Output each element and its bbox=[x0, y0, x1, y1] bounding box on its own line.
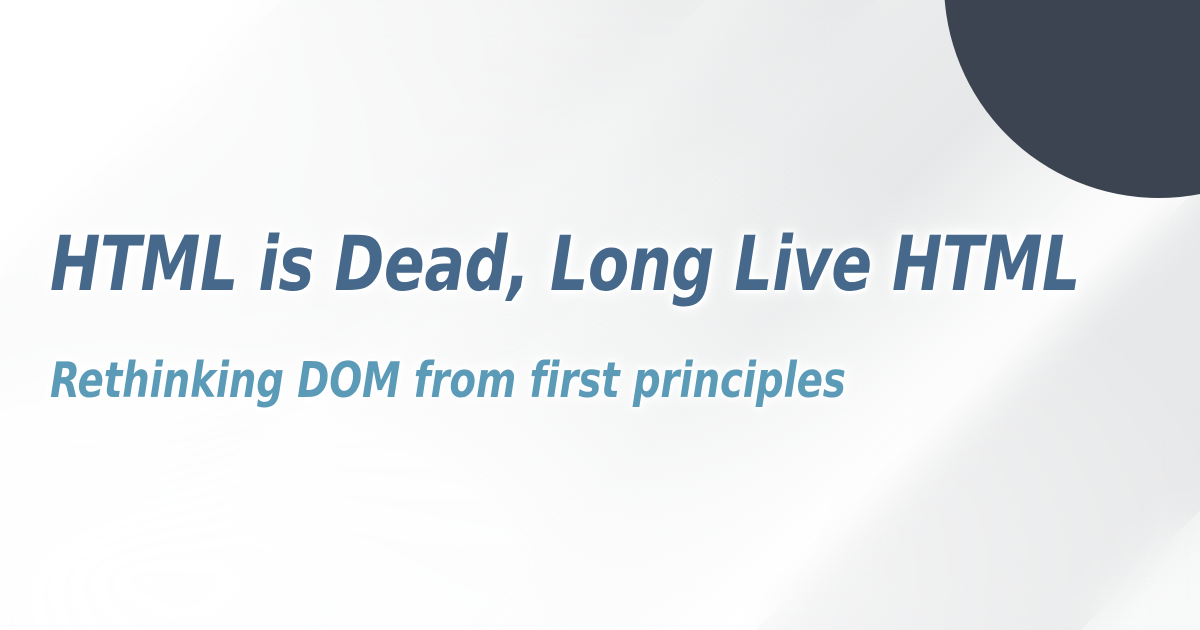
page-subtitle: Rethinking DOM from first principles bbox=[50, 355, 846, 406]
social-card: HTML is Dead, Long Live HTML Rethinking … bbox=[0, 0, 1200, 630]
page-title: HTML is Dead, Long Live HTML bbox=[50, 224, 1080, 303]
card-content: HTML is Dead, Long Live HTML Rethinking … bbox=[50, 0, 1170, 630]
